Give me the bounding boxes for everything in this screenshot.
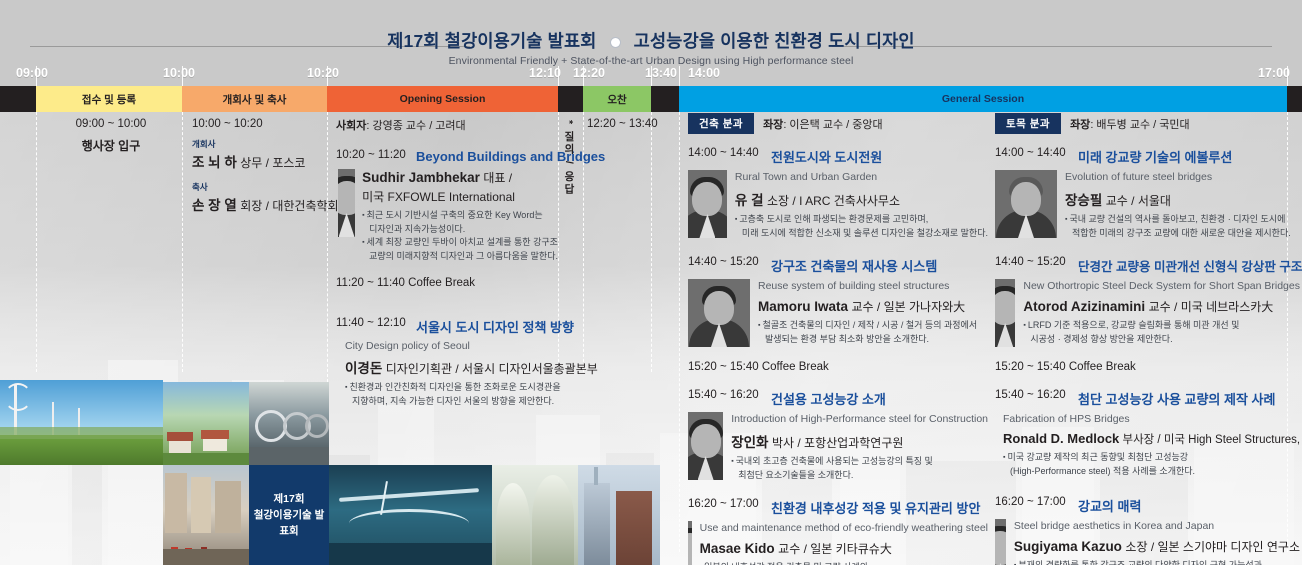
- bullet-line: 부재의 경량화를 통한 강구조 교량의 다양한 디자인 구현 가능성과: [1014, 559, 1300, 565]
- talk-title-ko: 건설용 고성능강 소개: [771, 389, 886, 408]
- speaker-affil: 부사장 / 미국 High Steel Structures, Inc.: [1123, 434, 1302, 446]
- speaker-photo: [688, 412, 723, 480]
- speaker-name: Sudhir Jambhekar: [362, 170, 480, 185]
- talk-title-en: Reuse system of building steel structure…: [758, 280, 988, 292]
- entrance-label: 행사장 입구: [44, 137, 178, 154]
- poster-page: 제17회 철강이용기술 발표회 고성능강을 이용한 친환경 도시 디자인 Env…: [0, 0, 1302, 565]
- speaker-photo: [688, 279, 750, 347]
- time-label-1020: 10:20: [307, 66, 339, 80]
- opening-remarks-time: 10:00 ~ 10:20: [192, 118, 324, 130]
- column-architecture: 건축 분과 좌장: 이은택 교수 / 중앙대 14:00 ~ 14:40 전원도…: [688, 113, 988, 565]
- poster-header: 제17회 철강이용기술 발표회 고성능강을 이용한 친환경 도시 디자인 Env…: [0, 14, 1302, 62]
- photo-wind-farm: [0, 380, 163, 465]
- talk-time: 14:00 ~ 14:40: [688, 147, 764, 159]
- talk-row: 15:40 ~ 16:20 건설용 고성능강 소개: [688, 389, 988, 408]
- speaker-affil: 교수 / 일본 가나자와大: [852, 300, 966, 314]
- talk-title-en: Evolution of future steel bridges: [1065, 171, 1300, 183]
- photo-village: [163, 382, 249, 465]
- speaker-photo: [688, 170, 727, 238]
- talk-body: Fabrication of HPS Bridges Ronald D. Med…: [995, 412, 1300, 480]
- bullet-line: 최첨단 요소기술들을 소개한다.: [731, 469, 988, 483]
- bullet-line: 시공성 · 경제성 향상 방안을 제안한다.: [1023, 333, 1300, 347]
- bullet-line: 국내외 초고층 건축물에 사용되는 고성능강의 특징 및: [731, 455, 988, 469]
- talk-row: 14:40 ~ 15:20 단경간 교량용 미관개선 신형식 강상판 구조시스템: [995, 256, 1300, 275]
- tile-line-1: 제17회: [249, 491, 329, 507]
- bullet-line: 교량의 미래지향적 디자인과 그 아름다움을 말한다.: [362, 250, 558, 264]
- talk-body: Reuse system of building steel structure…: [688, 279, 988, 347]
- talk-time: 11:40 ~ 12:10: [336, 317, 410, 329]
- talk-title-en: City Design policy of Seoul: [345, 340, 598, 352]
- opening-session-moderator: 사회자: 강영종 교수 / 고려대: [336, 117, 558, 133]
- title-separator-dot: [611, 38, 620, 47]
- civil-section-header: 토목 분과 좌장: 배두병 교수 / 국민대: [995, 113, 1300, 134]
- title-left: 제17회 철강이용기술 발표회: [387, 31, 596, 51]
- talk-row: 16:20 ~ 17:00 강교의 매력: [995, 496, 1300, 515]
- tile-line-2: 철강이용기술 발표회: [249, 507, 329, 540]
- speaker-affil: 소장 / 일본 스기야마 디자인 연구소: [1125, 540, 1300, 554]
- talk-title-en: New Othortropic Steel Deck System for Sh…: [1023, 280, 1300, 292]
- timeline-segment-opening-session[interactable]: Opening Session: [327, 86, 558, 112]
- talk-title-ko: 미래 강교량 기술의 에볼루션: [1078, 147, 1232, 166]
- bullet-line: (High-Performance steel) 적용 사례를 소개한다.: [1003, 465, 1302, 479]
- talk-time: 10:20 ~ 11:20: [336, 149, 410, 161]
- speaker-name: Ronald D. Medlock: [1003, 431, 1119, 446]
- speaker-name: 장승필: [1065, 193, 1102, 208]
- talk-body: Use and maintenance method of eco-friend…: [688, 521, 988, 565]
- speaker-affil: 교수 / 서울대: [1106, 194, 1171, 208]
- photo-bicycles: [249, 382, 329, 465]
- bullet-line: 철골조 건축물의 디자인 / 제작 / 시공 / 철거 등의 과정에서: [758, 319, 988, 333]
- speaker-photo: [995, 279, 1015, 347]
- column-entrance: 09:00 ~ 10:00 행사장 입구: [44, 118, 178, 154]
- talk-body: Sudhir Jambhekar 대표 / 미국 FXFOWLE Interna…: [336, 169, 558, 263]
- speaker-affil: 교수 / 미국 네브라스카大: [1149, 300, 1274, 314]
- timeline-segment-general-session[interactable]: General Session: [679, 86, 1287, 112]
- time-label-1210: 12:10: [529, 66, 561, 80]
- qa-vertical-label: * 질의 / 응답: [562, 120, 577, 196]
- talk-row: 16:20 ~ 17:00 친환경 내후성강 적용 및 유지관리 방안: [688, 498, 988, 517]
- talk-time: 15:40 ~ 16:20: [995, 389, 1071, 401]
- bullet-line: 최근 도시 기반시설 구축의 중요한 Key Word는: [362, 209, 558, 223]
- speaker-photo: [995, 519, 1006, 565]
- opening-remarks-affil-1: 상무 / 포스코: [240, 156, 305, 170]
- talk-title-ko: 강구조 건축물의 재사용 시스템: [771, 256, 937, 275]
- talk-title-en: Introduction of High-Performance steel f…: [731, 413, 988, 425]
- time-label-1700: 17:00: [1258, 66, 1290, 80]
- talk-bullets: 미국 강교량 제작의 최근 동향및 최첨단 고성능강 (High-Perform…: [1003, 451, 1302, 478]
- civil-chair-value: : 배두병 교수 / 국민대: [1090, 119, 1189, 131]
- bullet-line: 미국 강교량 제작의 최근 동향및 최첨단 고성능강: [1003, 451, 1302, 465]
- talk-title-en: Steel bridge aesthetics in Korea and Jap…: [1014, 520, 1300, 532]
- speaker-affil: 미국 FXFOWLE International: [362, 188, 558, 205]
- photo-bridge: [329, 465, 492, 565]
- opening-remarks-name-2: 손 장 열: [192, 198, 237, 213]
- speaker-affil: 박사 / 포항산업과학연구원: [772, 436, 903, 450]
- talk-title-ko: 친환경 내후성강 적용 및 유지관리 방안: [771, 498, 980, 517]
- talk-row: 14:00 ~ 14:40 미래 강교량 기술의 에볼루션: [995, 147, 1300, 166]
- coffee-break: 15:20 ~ 15:40 Coffee Break: [995, 361, 1300, 373]
- talk-title-ko: 첨단 고성능강 사용 교량의 제작 사례: [1078, 389, 1275, 408]
- entrance-time: 09:00 ~ 10:00: [44, 118, 178, 130]
- speaker-name: Mamoru Iwata: [758, 299, 848, 314]
- talk-time: 14:00 ~ 14:40: [995, 147, 1071, 159]
- timeline-bar: 접수 및 등록 개회사 및 축사 Opening Session 오찬 Gene…: [0, 86, 1302, 112]
- speaker-name: Masae Kido: [700, 541, 775, 556]
- talk-row: 14:40 ~ 15:20 강구조 건축물의 재사용 시스템: [688, 256, 988, 275]
- speaker-photo: [688, 521, 692, 565]
- bullet-line: 고층축 도시로 인해 파생되는 환경문제를 고민하며,: [735, 213, 988, 227]
- arch-section-header: 건축 분과 좌장: 이은택 교수 / 중앙대: [688, 113, 988, 134]
- column-opening-remarks: 10:00 ~ 10:20 개회사 조 뇌 하 상무 / 포스코 축사 손 장 …: [192, 118, 324, 214]
- talk-title-en: Rural Town and Urban Garden: [735, 171, 988, 183]
- arch-chair-value: : 이은택 교수 / 중앙대: [783, 119, 882, 131]
- timeline-segment-registration[interactable]: 접수 및 등록: [36, 86, 182, 112]
- speaker-affil: 소장 / I ARC 건축사사무소: [767, 194, 900, 208]
- opening-remarks-role-2: 축사: [192, 181, 324, 193]
- speaker-name: 장인화: [731, 435, 768, 450]
- talk-row: 14:00 ~ 14:40 전원도시와 도시전원: [688, 147, 988, 166]
- talk-body: Steel bridge aesthetics in Korea and Jap…: [995, 519, 1300, 565]
- photo-canopy: [492, 465, 578, 565]
- talk-time: 16:20 ~ 17:00: [688, 498, 764, 510]
- coffee-break: 15:20 ~ 15:40 Coffee Break: [688, 361, 988, 373]
- photo-street: [163, 465, 249, 565]
- talk-bullets: 철골조 건축물의 디자인 / 제작 / 시공 / 철거 등의 과정에서 발생되는…: [758, 319, 988, 346]
- title-right: 고성능강을 이용한 친환경 도시 디자인: [634, 31, 915, 51]
- talk-bullets: 국내외 초고층 건축물에 사용되는 고성능강의 특징 및 최첨단 요소기술들을 …: [731, 455, 988, 482]
- speaker-name: Sugiyama Kazuo: [1014, 539, 1122, 554]
- time-label-1340: 13:40: [645, 66, 677, 80]
- talk-time: 15:40 ~ 16:20: [688, 389, 764, 401]
- opening-remarks-role-1: 개회사: [192, 138, 324, 150]
- speaker-name: 유 걸: [735, 193, 764, 208]
- event-title-tile: 제17회 철강이용기술 발표회: [249, 465, 329, 565]
- talk-body: Rural Town and Urban Garden 유 걸 소장 / I A…: [688, 170, 988, 240]
- talk-bullets: 부재의 경량화를 통한 강구조 교량의 다양한 디자인 구현 가능성과 강교량 …: [1014, 559, 1300, 565]
- moderator-value: : 강영종 교수 / 고려대: [366, 120, 465, 132]
- page-title: 제17회 철강이용기술 발표회 고성능강을 이용한 친환경 도시 디자인: [0, 28, 1302, 53]
- bullet-line: 미래 도시에 적합한 신소재 및 솔루션 디자인을 철강소재로 말한다.: [735, 227, 988, 241]
- bullet-line: 세계 최장 교량인 두바이 아치교 설계를 통한 강구조: [362, 236, 558, 250]
- photo-strip: 제17회 철강이용기술 발표회: [0, 370, 660, 565]
- talk-body: New Othortropic Steel Deck System for Sh…: [995, 279, 1300, 347]
- talk-body: Introduction of High-Performance steel f…: [688, 412, 988, 482]
- opening-remarks-name-1: 조 뇌 하: [192, 155, 237, 170]
- timeline-segment-lunch[interactable]: 오찬: [583, 86, 651, 112]
- arch-chair-label: 좌장: [763, 119, 783, 131]
- time-label-1220: 12:20: [573, 66, 605, 80]
- bullet-line: 발생되는 환경 부담 최소화 방안을 소개한다.: [758, 333, 988, 347]
- bullet-line: 디자인과 지속가능성이다.: [362, 223, 558, 237]
- civil-badge: 토목 분과: [995, 113, 1061, 134]
- talk-bullets: LRFD 기준 적용으로, 강교량 슬림화를 통해 미관 개선 및 시공성 · …: [1023, 319, 1300, 346]
- speaker-photo: [338, 169, 355, 237]
- bullet-line: 국내 교량 건설의 역사를 돌아보고, 친환경 · 디자인 도시에: [1065, 213, 1300, 227]
- talk-title-ko: 단경간 교량용 미관개선 신형식 강상판 구조시스템: [1078, 256, 1302, 275]
- talk-body: Evolution of future steel bridges 장승필 교수…: [995, 170, 1300, 240]
- talk-title-ko: 전원도시와 도시전원: [771, 147, 882, 166]
- arch-badge: 건축 분과: [688, 113, 754, 134]
- bullet-line: 일본의 내후성강 적용 건축물 및 교량 사례와: [700, 561, 988, 565]
- time-label-1000: 10:00: [163, 66, 195, 80]
- time-label-1400: 14:00: [688, 66, 720, 80]
- opening-remarks-affil-2: 회장 / 대한건축학회: [240, 199, 338, 213]
- talk-title-en: Fabrication of HPS Bridges: [1003, 413, 1302, 425]
- talk-time: 16:20 ~ 17:00: [995, 496, 1071, 508]
- coffee-break: 11:20 ~ 11:40 Coffee Break: [336, 277, 558, 289]
- talk-bullets: 최근 도시 기반시설 구축의 중요한 Key Word는 디자인과 지속가능성이…: [362, 209, 558, 263]
- photo-towers: [578, 465, 660, 565]
- column-civil: 토목 분과 좌장: 배두병 교수 / 국민대 14:00 ~ 14:40 미래 …: [995, 113, 1300, 565]
- talk-title-ko: 서울시 도시 디자인 정책 방향: [416, 317, 574, 336]
- talk-bullets: 일본의 내후성강 적용 건축물 및 교량 사례와 녹안정화 과정에 따른 유지관…: [700, 561, 988, 565]
- speaker-role: 대표 /: [483, 171, 512, 185]
- bullet-line: LRFD 기준 적용으로, 강교량 슬림화를 통해 미관 개선 및: [1023, 319, 1300, 333]
- column-opening-session: 사회자: 강영종 교수 / 고려대 10:20 ~ 11:20 Beyond B…: [336, 117, 558, 408]
- civil-chair-label: 좌장: [1070, 119, 1090, 131]
- talk-time: 14:40 ~ 15:20: [688, 256, 764, 268]
- talk-row: 11:40 ~ 12:10 서울시 도시 디자인 정책 방향: [336, 317, 558, 336]
- column-qa: * 질의 / 응답: [562, 120, 582, 196]
- talk-row: 10:20 ~ 11:20 Beyond Buildings and Bridg…: [336, 149, 558, 164]
- lunch-time: 12:20 ~ 13:40: [587, 118, 649, 130]
- talk-title-en: Use and maintenance method of eco-friend…: [700, 522, 988, 534]
- talk-row: 15:40 ~ 16:20 첨단 고성능강 사용 교량의 제작 사례: [995, 389, 1300, 408]
- speaker-photo: [995, 170, 1057, 238]
- column-lunch: 12:20 ~ 13:40: [587, 118, 649, 130]
- talk-time: 14:40 ~ 15:20: [995, 256, 1071, 268]
- speaker-affil: 교수 / 일본 키타큐슈大: [778, 542, 892, 556]
- timeline-segment-opening-remarks[interactable]: 개회사 및 축사: [182, 86, 327, 112]
- bullet-line: 적합한 미래의 강구조 교량에 대한 새로운 대안을 제시한다.: [1065, 227, 1300, 241]
- time-label-0900: 09:00: [16, 66, 48, 80]
- talk-bullets: 국내 교량 건설의 역사를 돌아보고, 친환경 · 디자인 도시에 적합한 미래…: [1065, 213, 1300, 240]
- speaker-name: Atorod Azizinamini: [1023, 299, 1145, 314]
- moderator-label: 사회자: [336, 120, 366, 132]
- talk-title-ko: 강교의 매력: [1078, 496, 1141, 515]
- talk-bullets: 고층축 도시로 인해 파생되는 환경문제를 고민하며, 미래 도시에 적합한 신…: [735, 213, 988, 240]
